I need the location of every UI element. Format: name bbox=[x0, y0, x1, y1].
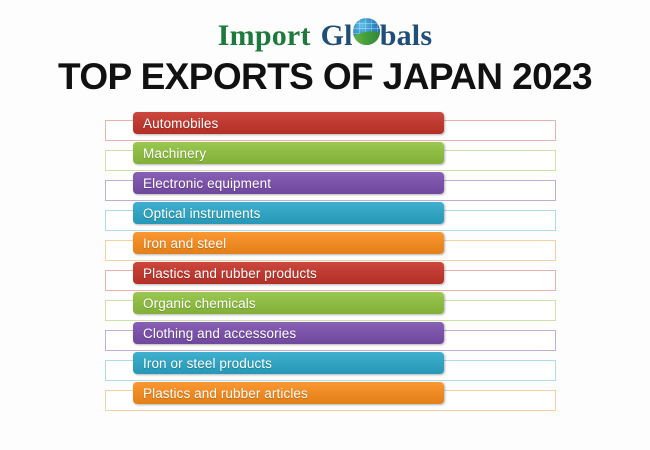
bar-label: Iron and steel bbox=[133, 236, 226, 251]
bar-machinery[interactable]: Machinery bbox=[133, 142, 444, 164]
chart-row: Plastics and rubber articles bbox=[0, 382, 650, 412]
bar-organic-chemicals[interactable]: Organic chemicals bbox=[133, 292, 444, 314]
infographic-canvas: ImportGlbals TOP EXPORTS OF JAPAN 2023 A… bbox=[0, 0, 650, 450]
export-bar-chart: AutomobilesMachineryElectronic equipment… bbox=[0, 112, 650, 422]
chart-row: Optical instruments bbox=[0, 202, 650, 232]
chart-row: Plastics and rubber products bbox=[0, 262, 650, 292]
bar-label: Automobiles bbox=[133, 116, 218, 131]
globe-icon bbox=[353, 18, 380, 45]
chart-row: Organic chemicals bbox=[0, 292, 650, 322]
bar-label: Plastics and rubber articles bbox=[133, 386, 308, 401]
bar-iron-and-steel[interactable]: Iron and steel bbox=[133, 232, 444, 254]
chart-row: Automobiles bbox=[0, 112, 650, 142]
logo-text-import: Import bbox=[218, 19, 311, 52]
bar-plastics-and-rubber-products[interactable]: Plastics and rubber products bbox=[133, 262, 444, 284]
bar-label: Organic chemicals bbox=[133, 296, 256, 311]
bar-label: Electronic equipment bbox=[133, 176, 271, 191]
chart-row: Clothing and accessories bbox=[0, 322, 650, 352]
bar-label: Iron or steel products bbox=[133, 356, 272, 371]
bar-automobiles[interactable]: Automobiles bbox=[133, 112, 444, 134]
bar-label: Optical instruments bbox=[133, 206, 260, 221]
chart-row: Iron and steel bbox=[0, 232, 650, 262]
bar-label: Machinery bbox=[133, 146, 206, 161]
bar-label: Plastics and rubber products bbox=[133, 266, 317, 281]
bar-clothing-and-accessories[interactable]: Clothing and accessories bbox=[133, 322, 444, 344]
bar-label: Clothing and accessories bbox=[133, 326, 296, 341]
bar-plastics-and-rubber-articles[interactable]: Plastics and rubber articles bbox=[133, 382, 444, 404]
bar-iron-or-steel-products[interactable]: Iron or steel products bbox=[133, 352, 444, 374]
logo-text-bals: bals bbox=[380, 19, 433, 52]
bar-electronic-equipment[interactable]: Electronic equipment bbox=[133, 172, 444, 194]
chart-row: Machinery bbox=[0, 142, 650, 172]
chart-row: Iron or steel products bbox=[0, 352, 650, 382]
page-title: TOP EXPORTS OF JAPAN 2023 bbox=[0, 56, 650, 98]
brand-logo: ImportGlbals bbox=[0, 16, 650, 56]
bar-optical-instruments[interactable]: Optical instruments bbox=[133, 202, 444, 224]
chart-row: Electronic equipment bbox=[0, 172, 650, 202]
logo-text-gl: Gl bbox=[321, 19, 353, 52]
